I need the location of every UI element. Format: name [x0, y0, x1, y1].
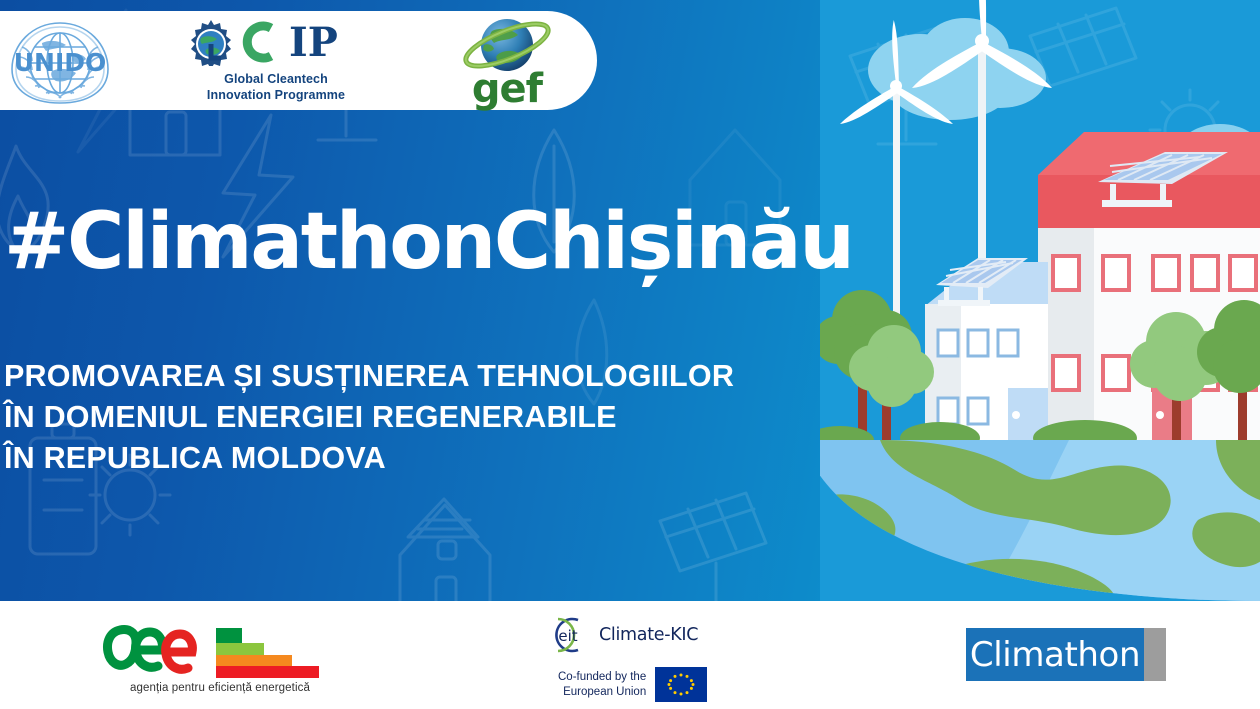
partner-logo-bar: UNIDO [0, 11, 597, 110]
aee-caption: agenția pentru eficiență energetică [100, 682, 340, 694]
subheading-line-1: PROMOVAREA ȘI SUSȚINEREA TEHNOLOGIILOR [4, 356, 734, 397]
gear-globe-icon [187, 18, 235, 66]
eit-climate-kic-logo: eit Climate-KIC Co-funded by the Europea… [546, 615, 736, 701]
gcip-tagline: Global Cleantech Innovation Programme [207, 71, 345, 104]
energy-rating-bars [216, 628, 324, 678]
gcip-tagline-line-2: Innovation Programme [207, 88, 345, 102]
gcip-tagline-line-1: Global Cleantech [224, 72, 328, 86]
gef-logo: gef [452, 15, 562, 107]
earth-globe [820, 438, 1260, 601]
page-title: #ClimathonChișinău [0, 203, 853, 281]
eit-ring-icon: eit [546, 615, 590, 655]
european-union-flag-icon [655, 667, 707, 702]
eu-funding-text: Co-funded by the European Union [558, 670, 646, 699]
climathon-logo: Climathon [966, 628, 1166, 681]
apartment-building [1038, 132, 1260, 443]
tree-icon [820, 290, 934, 445]
gcip-wordmark: IP [187, 18, 365, 66]
eit-climate-kic-name: Climate-KIC [599, 625, 698, 645]
svg-text:IP: IP [289, 19, 338, 66]
unido-logo: UNIDO [8, 17, 112, 105]
climathon-wordmark: Climathon [970, 638, 1140, 672]
svg-text:eit: eit [558, 627, 577, 645]
renewable-energy-illustration [820, 0, 1260, 601]
svg-text:UNIDO: UNIDO [14, 48, 107, 77]
subheading: PROMOVAREA ȘI SUSȚINEREA TEHNOLOGIILOR Î… [0, 356, 734, 479]
footer-logo-bar: agenția pentru eficiență energetică eit … [0, 601, 1260, 709]
house-with-solar-panel [925, 258, 1048, 444]
gef-wordmark: gef [452, 69, 562, 109]
climathon-box: Climathon [966, 628, 1144, 681]
climathon-banner: #ClimathonChișinău PROMOVAREA ȘI SUSȚINE… [0, 0, 1260, 709]
climathon-accent-bar [1144, 628, 1166, 681]
eu-funding-line-1: Co-funded by the [558, 670, 646, 684]
aee-wordmark [100, 620, 212, 678]
gcip-logo: IP Global Cleantech Innovation Programme [182, 13, 370, 109]
eu-funding-line-2: European Union [558, 685, 646, 699]
subheading-line-2: ÎN DOMENIUL ENERGIEI REGENERABILE [4, 397, 734, 438]
aee-logo: agenția pentru eficiență energetică [100, 618, 340, 692]
subheading-line-3: ÎN REPUBLICA MOLDOVA [4, 438, 734, 479]
